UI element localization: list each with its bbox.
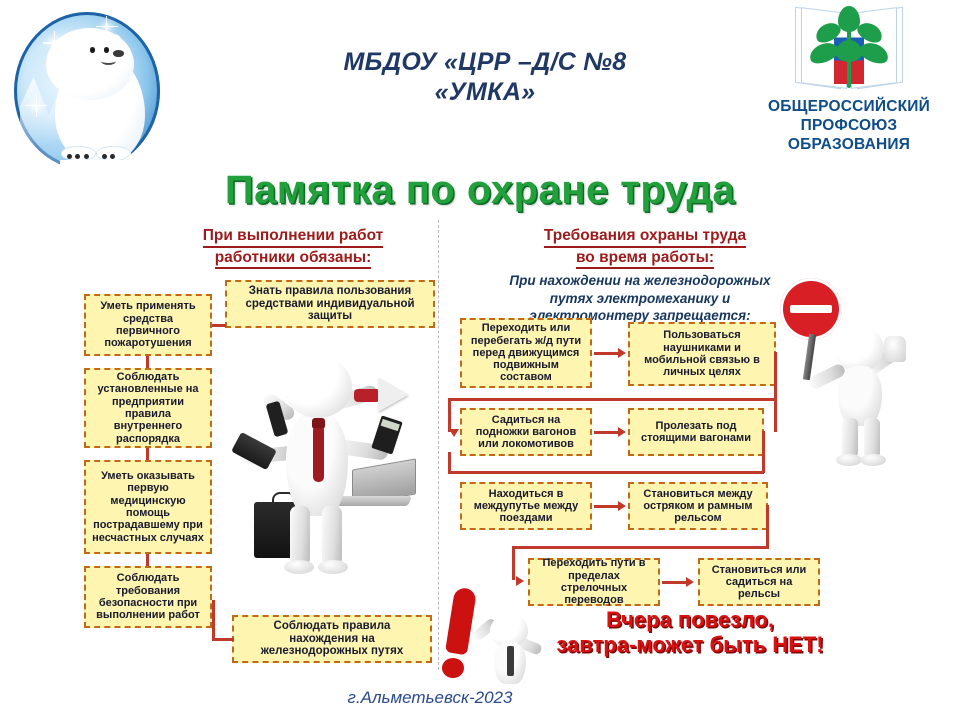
figure-shoe-right (318, 560, 348, 574)
figure-leg-left (290, 506, 310, 568)
left-heading-line-2: работники обязаны: (215, 248, 372, 270)
safety-slogan: Вчера повезло, завтра-может быть НЕТ! (520, 608, 860, 657)
left-box-3-label: Уметь оказывать первую медицинскую помощ… (90, 470, 206, 544)
calculator-icon (371, 415, 402, 454)
wrap-arrow-3 (516, 576, 524, 586)
right-row-3-right-box: Становиться между остряком и рамным рель… (628, 482, 768, 530)
union-text-line-2: ПРОФСОЮЗ (746, 117, 952, 136)
right-row-1-left-label: Переходить или перебегать ж/д пути перед… (466, 322, 586, 384)
left-bottom-box: Соблюдать правила нахождения на железнод… (232, 615, 432, 663)
arrow-line-row-1 (594, 352, 620, 355)
right-row-3-left-label: Находиться в междупутье между поездами (466, 488, 586, 525)
bear-ear-right (106, 34, 121, 45)
arrow-head-row-1 (618, 348, 626, 358)
slogan-line-1: Вчера повезло, (520, 608, 860, 633)
bear-ear-left (64, 34, 79, 45)
right-row-1-right-label: Пользоваться наушниками и мобильной связ… (634, 329, 770, 378)
right-row-2-left-label: Садиться на подножки вагонов или локомот… (466, 414, 586, 451)
right-row-2-left-box: Садиться на подножки вагонов или локомот… (460, 408, 592, 456)
bear-head (46, 28, 134, 101)
right-row-4-right-box: Становиться или садиться на рельсы (698, 558, 820, 606)
right-heading-line-2: во время работы: (576, 248, 714, 270)
arrow-line-row-3 (594, 505, 620, 508)
connector-left-top-box (212, 324, 226, 327)
wrap-connector-3-horizontal (512, 546, 768, 549)
multitasking-3d-figure (228, 356, 418, 586)
left-heading-line-1: При выполнении работ (203, 226, 384, 248)
arrow-head-row-3 (618, 501, 626, 511)
figure-shoe-left (836, 454, 862, 466)
left-box-2: Соблюдать установленные на предприятии п… (84, 368, 212, 448)
left-box-1: Уметь применять средства первичного пожа… (84, 294, 212, 356)
right-subtitle-line-1: При нахождении на железнодорожных (460, 272, 820, 290)
slide-canvas: МБДОУ «ЦРР –Д/С №8 «УМКА» ОБЩЕРОССИЙСКИЙ… (0, 0, 960, 720)
right-column-subtitle: При нахождении на железнодорожных путях … (460, 272, 820, 325)
column-divider (438, 220, 439, 670)
figure-leg-right (322, 506, 342, 568)
safety-memo-poster: Памятка по охране труда При выполнении р… (60, 160, 900, 680)
union-text-line-3: ОБРАЗОВАНИЯ (746, 136, 952, 155)
school-title-line-2: «УМКА» (300, 78, 670, 108)
footer-place-year: г.Альметьевск-2023 (300, 688, 560, 708)
sign-pole (803, 334, 816, 381)
wrap-connector-3-vertical (766, 505, 769, 549)
arrow-line-row-4 (662, 581, 688, 584)
right-row-3-left-box: Находиться в междупутье между поездами (460, 482, 592, 530)
megaphone-cone (378, 378, 408, 412)
bear-toe (84, 154, 89, 159)
wrap-connector-3-drop (512, 546, 515, 580)
connector-left-bottom-riser (212, 600, 215, 640)
school-title-line-1: МБДОУ «ЦРР –Д/С №8 (300, 48, 670, 78)
figure-head (284, 356, 352, 418)
arrow-line-row-2 (594, 431, 620, 434)
figure-shoe-left (284, 560, 314, 574)
wrap-arrow-1 (449, 429, 459, 437)
figure-shoe-right (860, 454, 886, 466)
left-box-2-label: Соблюдать установленные на предприятии п… (90, 371, 206, 445)
necktie (313, 428, 324, 482)
umka-circle-background (14, 12, 160, 170)
left-box-1-label: Уметь применять средства первичного пожа… (90, 300, 206, 349)
left-top-box: Знать правила пользования средствами инд… (225, 280, 435, 328)
right-row-2-right-box: Пролезать под стоящими вагонами (628, 408, 764, 456)
wrap-connector-2-horizontal (448, 471, 764, 474)
right-subtitle-line-2: путях электромеханику и (460, 290, 820, 308)
megaphone-handle (354, 389, 380, 402)
slogan-line-2: завтра-может быть НЕТ! (520, 633, 860, 658)
open-book-icon (795, 6, 903, 92)
bear-toe (102, 154, 107, 159)
right-row-4-right-label: Становиться или садиться на рельсы (704, 564, 814, 601)
bear-eye-left (90, 47, 95, 53)
school-title: МБДОУ «ЦРР –Д/С №8 «УМКА» (300, 48, 670, 107)
left-column-heading: При выполнении работ работники обязаны: (148, 226, 438, 269)
left-top-box-label: Знать правила пользования средствами инд… (231, 285, 429, 324)
no-entry-sign-icon (780, 278, 842, 340)
connector-left-2-3 (146, 448, 149, 460)
connector-left-1-2 (146, 356, 149, 368)
exclamation-mark-dot (442, 658, 464, 678)
tablet-icon (231, 432, 277, 470)
necktie (507, 646, 514, 676)
stop-sign-3d-figure (772, 278, 922, 448)
right-row-2-right-label: Пролезать под стоящими вагонами (634, 420, 758, 445)
right-row-1-left-box: Переходить или перебегать ж/д пути перед… (460, 318, 592, 388)
open-palm-stop-gesture (884, 336, 906, 362)
right-row-3-right-label: Становиться между остряком и рамным рель… (634, 488, 762, 525)
left-box-4: Соблюдать требования безопасности при вы… (84, 566, 212, 628)
wrap-connector-1-drop (448, 398, 451, 432)
union-logo-text: ОБЩЕРОССИЙСКИЙ ПРОФСОЮЗ ОБРАЗОВАНИЯ (746, 98, 952, 155)
arrow-head-row-4 (686, 577, 694, 587)
left-bottom-box-label: Соблюдать правила нахождения на железнод… (238, 620, 426, 659)
umka-mascot-logo (14, 12, 160, 172)
sparkle-icon (105, 25, 109, 29)
wrap-connector-2-vertical (762, 431, 765, 473)
connector-left-3-4 (146, 554, 149, 566)
wrap-connector-1-horizontal (448, 398, 776, 401)
bear-toe (67, 154, 72, 159)
figure-torso (838, 366, 882, 426)
calculator-screen (381, 419, 400, 431)
bear-nose (113, 50, 124, 57)
wrap-connector-2-drop (448, 452, 451, 472)
poster-title: Памятка по охране труда (60, 168, 900, 213)
trade-union-logo: ОБЩЕРОССИЙСКИЙ ПРОФСОЮЗ ОБРАЗОВАНИЯ (746, 4, 952, 154)
arrow-head-row-2 (618, 427, 626, 437)
right-row-1-right-box: Пользоваться наушниками и мобильной связ… (628, 322, 776, 386)
connector-left-bottom-box (212, 638, 234, 641)
right-column-heading: Требования охраны труда во время работы: (480, 226, 810, 269)
union-text-line-1: ОБЩЕРОССИЙСКИЙ (746, 98, 952, 117)
leaf-icon (836, 40, 862, 62)
right-heading-line-1: Требования охраны труда (544, 226, 746, 248)
exclamation-mark-bar (445, 587, 477, 656)
laptop-base (336, 496, 412, 506)
left-box-3: Уметь оказывать первую медицинскую помощ… (84, 460, 212, 554)
left-box-4-label: Соблюдать требования безопасности при вы… (90, 572, 206, 621)
